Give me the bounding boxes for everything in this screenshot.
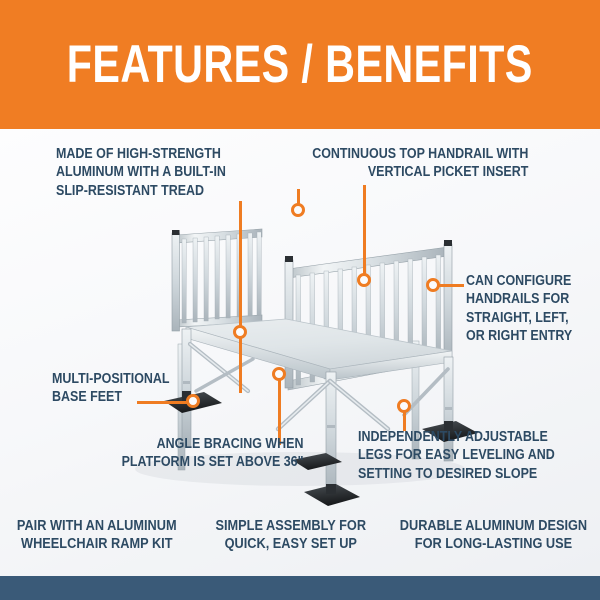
leader-dot-handrail-left [291,203,305,217]
leader-line-config [438,284,464,287]
bottom-accent-bar [0,576,600,600]
callout-angle-bracing: ANGLE BRACING WHEN PLATFORM IS SET ABOVE… [122,435,304,472]
leader-line-tread [239,201,242,393]
callout-line: ALUMINUM WITH A BUILT-IN [56,163,226,181]
footer-line: DURABLE ALUMINUM DESIGN [400,517,587,535]
callout-line: CAN CONFIGURE [466,272,572,290]
footer-line: WHEELCHAIR RAMP KIT [12,535,182,553]
callout-line: OR RIGHT ENTRY [466,327,572,345]
callout-can-configure-handrails: CAN CONFIGURE HANDRAILS FOR STRAIGHT, LE… [466,272,572,345]
handrail-panel-left [172,229,262,331]
callout-line: CONTINUOUS TOP HANDRAIL WITH [312,145,528,163]
callout-line: MADE OF HIGH-STRENGTH [56,145,226,163]
callout-line: LEGS FOR EASY LEVELING AND [358,446,555,464]
header-banner: FEATURES / BENEFITS [0,0,600,129]
leader-line-handrail2 [363,185,366,279]
footer-line: FOR LONG-LASTING USE [400,535,587,553]
leg-front-left [182,329,191,447]
leader-dot-legs [397,399,411,413]
footer-col-durable-design: DURABLE ALUMINUM DESIGN FOR LONG-LASTING… [387,517,600,554]
leader-dot-tread [233,325,247,339]
footer-line: QUICK, EASY SET UP [205,535,375,553]
callout-made-of-high-strength-aluminum: MADE OF HIGH-STRENGTH ALUMINUM WITH A BU… [56,145,226,200]
callout-line: ANGLE BRACING WHEN [122,435,304,453]
callout-line: HANDRAILS FOR [466,290,572,308]
callout-line: VERTICAL PICKET INSERT [312,163,528,181]
leader-dot-feet [186,394,200,408]
footer-line: SIMPLE ASSEMBLY FOR [205,517,375,535]
footer-col-simple-assembly: SIMPLE ASSEMBLY FOR QUICK, EASY SET UP [194,517,388,554]
callout-multi-positional-base-feet: MULTI-POSITIONAL BASE FEET [52,370,170,407]
callout-line: BASE FEET [52,388,170,406]
callout-independently-adjustable-legs: INDEPENDENTLY ADJUSTABLE LEGS FOR EASY L… [358,428,555,483]
leader-dot-handrail2 [357,273,371,287]
callout-continuous-top-handrail: CONTINUOUS TOP HANDRAIL WITH VERTICAL PI… [312,145,528,182]
leader-dot-brace [272,367,286,381]
footer-line: PAIR WITH AN ALUMINUM [12,517,182,535]
callout-line: STRAIGHT, LEFT, [466,309,572,327]
main-stage: MADE OF HIGH-STRENGTH ALUMINUM WITH A BU… [0,129,600,576]
callout-line: PLATFORM IS SET ABOVE 36" [122,453,304,471]
leader-dot-config [426,278,440,292]
callout-line: SETTING TO DESIRED SLOPE [358,465,555,483]
footer-columns: PAIR WITH AN ALUMINUM WHEELCHAIR RAMP KI… [0,517,600,576]
callout-line: SLIP-RESISTANT TREAD [56,182,226,200]
callout-line: MULTI-POSITIONAL [52,370,170,388]
page-title: FEATURES / BENEFITS [67,38,533,91]
leg-center [326,372,336,492]
callout-line: INDEPENDENTLY ADJUSTABLE [358,428,555,446]
footer-col-pair-with-ramp-kit: PAIR WITH AN ALUMINUM WHEELCHAIR RAMP KI… [0,517,194,554]
